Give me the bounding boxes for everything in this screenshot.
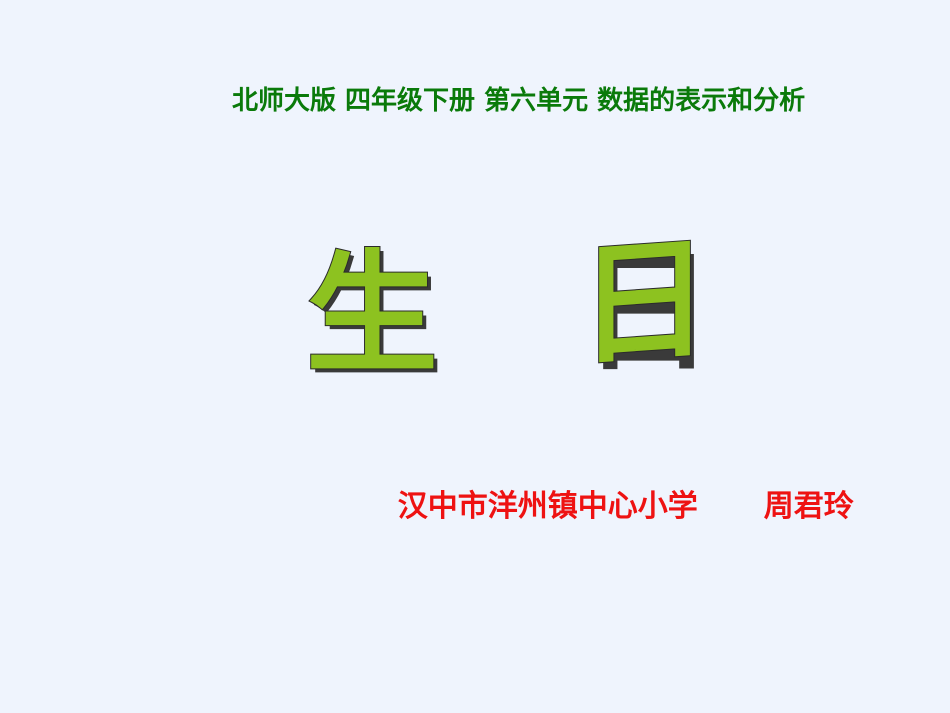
presentation-slide: 北师大版 四年级下册 第六单元 数据的表示和分析 生 日 生 日 汉中市洋州镇中… — [0, 0, 950, 713]
wordart-svg: 生 日 生 日 — [300, 236, 700, 386]
wordart-title-生日: 生 日 生 日 — [300, 236, 700, 386]
wordart-char-2: 日 — [578, 221, 710, 384]
credit-school-name: 汉中市洋州镇中心小学 — [398, 489, 698, 524]
credit-line: 汉中市洋州镇中心小学周君玲 — [356, 450, 854, 564]
unit-heading: 北师大版 四年级下册 第六单元 数据的表示和分析 — [232, 82, 892, 120]
credit-teacher-name: 周君玲 — [764, 489, 854, 524]
wordart-char-1: 生 — [306, 238, 438, 392]
